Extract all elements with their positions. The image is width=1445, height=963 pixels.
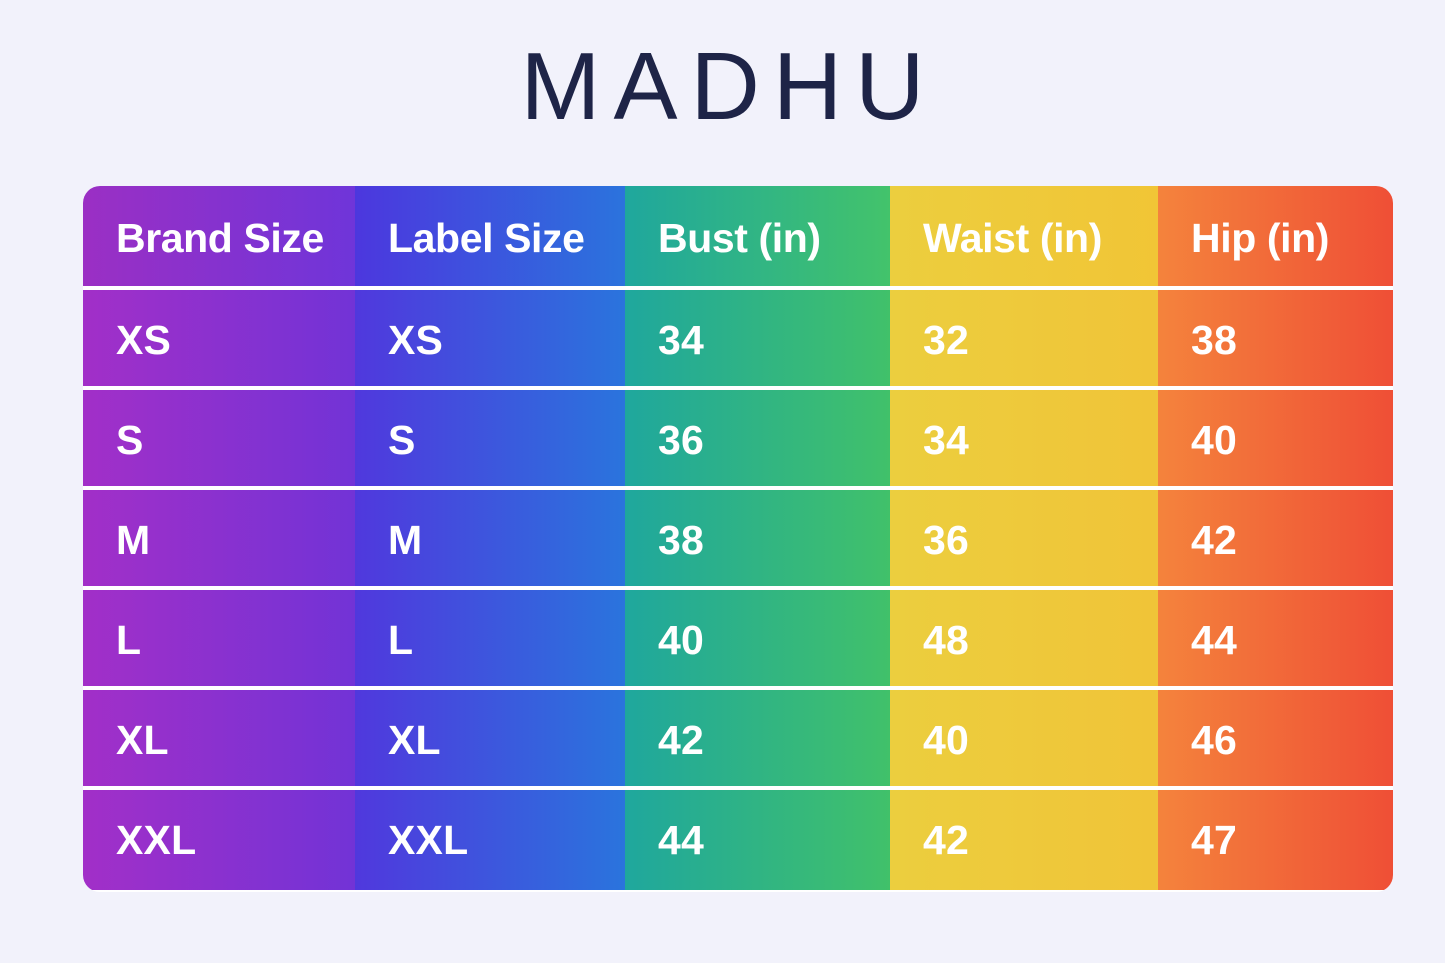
column-header-bust: Bust (in) — [625, 186, 890, 290]
cell-hip: 42 — [1158, 490, 1393, 590]
cell-bust: 36 — [625, 390, 890, 490]
cell-brand-size: XS — [83, 290, 355, 390]
table-row: XS XS 34 32 38 — [83, 290, 1393, 390]
cell-hip: 44 — [1158, 590, 1393, 690]
cell-label-size: L — [355, 590, 625, 690]
cell-brand-size: XXL — [83, 790, 355, 890]
cell-waist: 40 — [890, 690, 1158, 790]
cell-brand-size: XL — [83, 690, 355, 790]
page-title: MADHU — [0, 30, 1445, 143]
cell-waist: 34 — [890, 390, 1158, 490]
cell-label-size: S — [355, 390, 625, 490]
cell-brand-size: M — [83, 490, 355, 590]
cell-label-size: M — [355, 490, 625, 590]
cell-bust: 40 — [625, 590, 890, 690]
size-chart-table: Brand Size Label Size Bust (in) Waist (i… — [83, 186, 1393, 892]
column-header-hip: Hip (in) — [1158, 186, 1393, 290]
cell-hip: 38 — [1158, 290, 1393, 390]
column-header-waist: Waist (in) — [890, 186, 1158, 290]
column-header-brand-size: Brand Size — [83, 186, 355, 290]
cell-bust: 42 — [625, 690, 890, 790]
table-row: L L 40 48 44 — [83, 590, 1393, 690]
cell-waist: 42 — [890, 790, 1158, 890]
cell-bust: 34 — [625, 290, 890, 390]
cell-label-size: XS — [355, 290, 625, 390]
cell-brand-size: S — [83, 390, 355, 490]
cell-brand-size: L — [83, 590, 355, 690]
column-header-label-size: Label Size — [355, 186, 625, 290]
cell-hip: 40 — [1158, 390, 1393, 490]
cell-label-size: XL — [355, 690, 625, 790]
table-row: XXL XXL 44 42 47 — [83, 790, 1393, 890]
cell-waist: 36 — [890, 490, 1158, 590]
cell-waist: 48 — [890, 590, 1158, 690]
cell-label-size: XXL — [355, 790, 625, 890]
cell-hip: 46 — [1158, 690, 1393, 790]
table-row: XL XL 42 40 46 — [83, 690, 1393, 790]
cell-waist: 32 — [890, 290, 1158, 390]
table-row: M M 38 36 42 — [83, 490, 1393, 590]
cell-bust: 44 — [625, 790, 890, 890]
cell-bust: 38 — [625, 490, 890, 590]
cell-hip: 47 — [1158, 790, 1393, 890]
size-chart-page: MADHU Brand Size Label Size Bust (in) Wa… — [0, 0, 1445, 963]
table-header-row: Brand Size Label Size Bust (in) Waist (i… — [83, 186, 1393, 290]
table-row: S S 36 34 40 — [83, 390, 1393, 490]
